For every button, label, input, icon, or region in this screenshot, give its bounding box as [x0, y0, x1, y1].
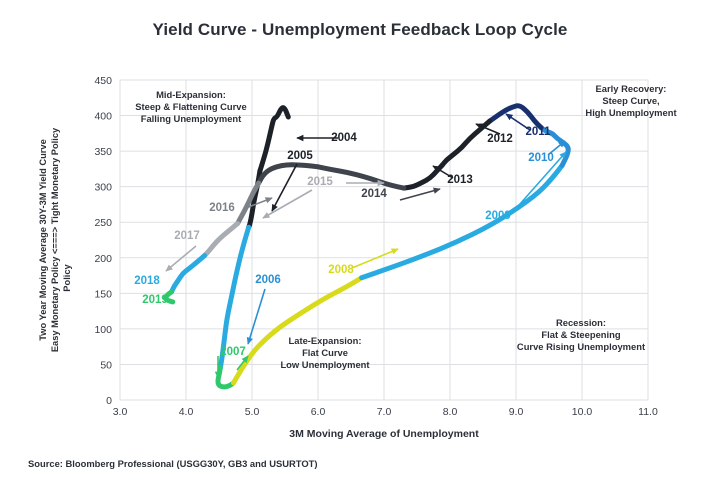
arrow-2014 — [400, 189, 440, 200]
series-path-2018 — [172, 256, 205, 292]
annotation-late-expansion: Late-Expansion:Flat CurveLow Unemploymen… — [280, 335, 369, 370]
year-label-2014: 2014 — [361, 188, 387, 200]
arrow-2015b — [263, 190, 312, 218]
annotation-line: Flat & Steepening — [541, 329, 620, 340]
data-series-group — [166, 106, 569, 387]
annotation-line: Low Unemployment — [280, 359, 369, 370]
y-tick-400: 400 — [94, 111, 112, 123]
annotation-line: Steep Curve, — [602, 95, 659, 106]
series-path-2004 — [260, 108, 288, 171]
annotation-line: Flat Curve — [302, 347, 348, 358]
x-tick-6.0: 6.0 — [311, 406, 326, 418]
arrow-2005 — [272, 164, 297, 211]
x-tick-3.0: 3.0 — [113, 406, 128, 418]
y-tick-150: 150 — [94, 288, 112, 300]
y-axis-title-line1: Two Year Moving Average 30Y-3M Yield Cur… — [38, 139, 48, 341]
annotation-line: Curve Rising Unemployment — [517, 341, 645, 352]
x-tick-7.0: 7.0 — [377, 406, 392, 418]
x-tick-5.0: 5.0 — [245, 406, 260, 418]
year-label-2017: 2017 — [174, 230, 200, 242]
phase-annotations: Mid-Expansion:Steep & Flattening CurveFa… — [135, 83, 676, 370]
y-axis-title-line2: Easy Monetary Policy <===> Tight Monetar… — [50, 127, 60, 352]
annotation-line: Steep & Flattening Curve — [135, 101, 246, 112]
year-data-labels: 2004200520062007200820092010201120122013… — [134, 126, 554, 358]
year-label-2006: 2006 — [255, 274, 281, 286]
y-tick-200: 200 — [94, 253, 112, 265]
year-label-2013: 2013 — [447, 174, 473, 186]
series-path-2011 — [490, 106, 541, 128]
year-label-2007: 2007 — [220, 346, 246, 358]
y-tick-450: 450 — [94, 75, 112, 87]
annotation-line: Early Recovery: — [596, 83, 667, 94]
year-label-2008: 2008 — [328, 264, 354, 276]
y-tick-50: 50 — [100, 359, 112, 371]
annotation-mid-expansion: Mid-Expansion:Steep & Flattening CurveFa… — [135, 89, 246, 124]
chart-container: 3.04.05.06.07.08.09.010.011.0 0501001502… — [0, 0, 720, 500]
year-label-2009: 2009 — [485, 210, 511, 222]
y-tick-100: 100 — [94, 324, 112, 336]
year-label-2005: 2005 — [287, 150, 313, 162]
x-axis-title: 3M Moving Average of Unemployment — [289, 428, 479, 440]
y-tick-350: 350 — [94, 146, 112, 158]
source-note: Source: Bloomberg Professional (USGG30Y,… — [28, 458, 317, 469]
year-label-2010: 2010 — [528, 152, 554, 164]
year-label-2004: 2004 — [331, 132, 357, 144]
arrow-2006 — [248, 289, 265, 344]
x-axis-tick-labels: 3.04.05.06.07.08.09.010.011.0 — [113, 406, 658, 418]
y-axis-title-line3: Policy — [62, 263, 72, 291]
yield-curve-unemployment-scatter-line-chart: 3.04.05.06.07.08.09.010.011.0 0501001502… — [0, 0, 720, 500]
series-path-2017 — [205, 224, 238, 256]
annotation-early-recovery: Early Recovery:Steep Curve,High Unemploy… — [585, 83, 676, 118]
annotation-line: High Unemployment — [585, 107, 676, 118]
year-label-2018: 2018 — [134, 275, 160, 287]
x-tick-10.0: 10.0 — [572, 406, 593, 418]
annotation-recession: Recession:Flat & SteepeningCurve Rising … — [517, 317, 645, 352]
annotation-line: Falling Unemployment — [141, 113, 242, 124]
annotation-line: Mid-Expansion: — [156, 89, 226, 100]
series-path-2007 — [218, 368, 234, 387]
x-tick-9.0: 9.0 — [509, 406, 524, 418]
year-label-2015: 2015 — [307, 176, 333, 188]
y-tick-300: 300 — [94, 182, 112, 194]
y-tick-250: 250 — [94, 217, 112, 229]
annotation-line: Late-Expansion: — [289, 335, 362, 346]
series-path-2012 — [442, 121, 490, 165]
y-tick-0: 0 — [106, 395, 112, 407]
year-label-2019: 2019 — [142, 294, 168, 306]
year-label-2016: 2016 — [209, 202, 235, 214]
x-tick-4.0: 4.0 — [179, 406, 194, 418]
annotation-line: Recession: — [556, 317, 606, 328]
y-axis-tick-labels: 050100150200250300350400450 — [94, 75, 112, 407]
x-tick-8.0: 8.0 — [443, 406, 458, 418]
year-label-2011: 2011 — [526, 126, 552, 138]
year-label-2012: 2012 — [487, 133, 513, 145]
y-axis-title: Two Year Moving Average 30Y-3M Yield Cur… — [38, 127, 72, 352]
x-tick-11.0: 11.0 — [638, 406, 658, 418]
